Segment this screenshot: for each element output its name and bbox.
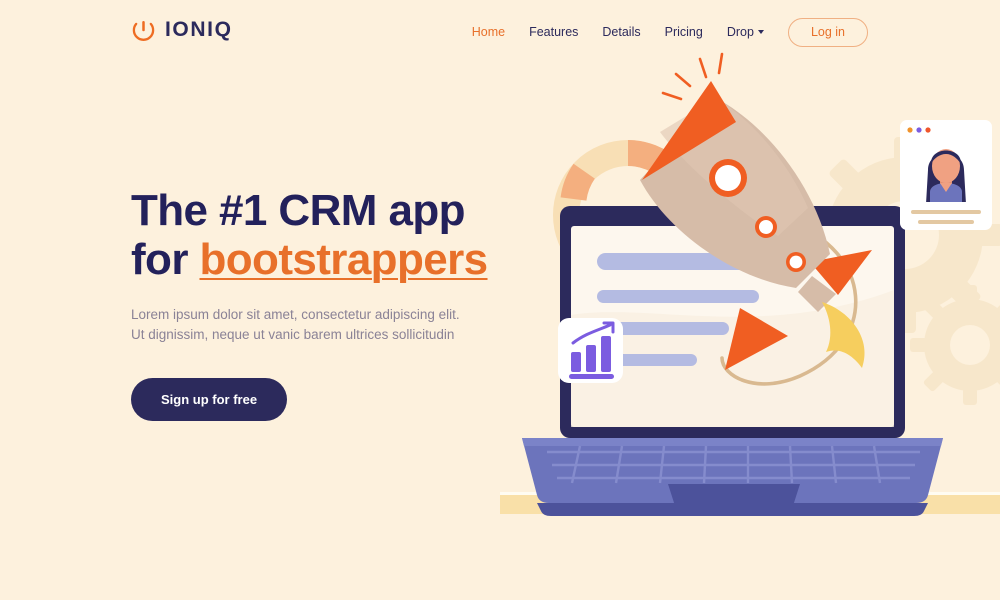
avatar bbox=[910, 138, 982, 206]
nav-item-pricing[interactable]: Pricing bbox=[653, 21, 715, 44]
brand-name: IONIQ bbox=[165, 19, 233, 40]
crm-hero-illustration bbox=[500, 40, 1000, 520]
nav-item-features[interactable]: Features bbox=[517, 21, 590, 44]
hero-copy: The #1 CRM app for bootstrappers Lorem i… bbox=[131, 186, 531, 421]
hero-subtitle: Lorem ipsum dolor sit amet, consectetur … bbox=[131, 305, 461, 347]
brand-logo[interactable]: IONIQ bbox=[131, 17, 233, 42]
bar-chart-badge bbox=[558, 318, 623, 383]
nav-item-home[interactable]: Home bbox=[460, 21, 517, 44]
profile-card bbox=[900, 120, 992, 230]
signup-button[interactable]: Sign up for free bbox=[131, 378, 287, 421]
ioniq-power-i-icon bbox=[131, 17, 156, 42]
hero-title-line-1: The #1 CRM app bbox=[131, 186, 465, 235]
landing-page: IONIQ Home Features Details Pricing Drop… bbox=[0, 0, 1000, 600]
nav-item-details[interactable]: Details bbox=[590, 21, 652, 44]
hero-title-line-2-prefix: for bbox=[131, 235, 199, 284]
page-title: The #1 CRM app for bootstrappers bbox=[131, 186, 531, 285]
site-header: IONIQ Home Features Details Pricing Drop… bbox=[0, 0, 1000, 62]
profile-card-text-line-1 bbox=[911, 210, 981, 214]
nav-item-drop[interactable]: Drop bbox=[715, 21, 776, 44]
nav-item-drop-label: Drop bbox=[727, 25, 754, 39]
window-dots-icon bbox=[907, 127, 930, 132]
main-navigation: Home Features Details Pricing Drop Log i… bbox=[460, 18, 868, 47]
chevron-down-icon bbox=[758, 30, 764, 34]
login-button[interactable]: Log in bbox=[788, 18, 868, 47]
hero-title-accent: bootstrappers bbox=[199, 235, 487, 284]
profile-card-text-line-2 bbox=[918, 220, 974, 224]
